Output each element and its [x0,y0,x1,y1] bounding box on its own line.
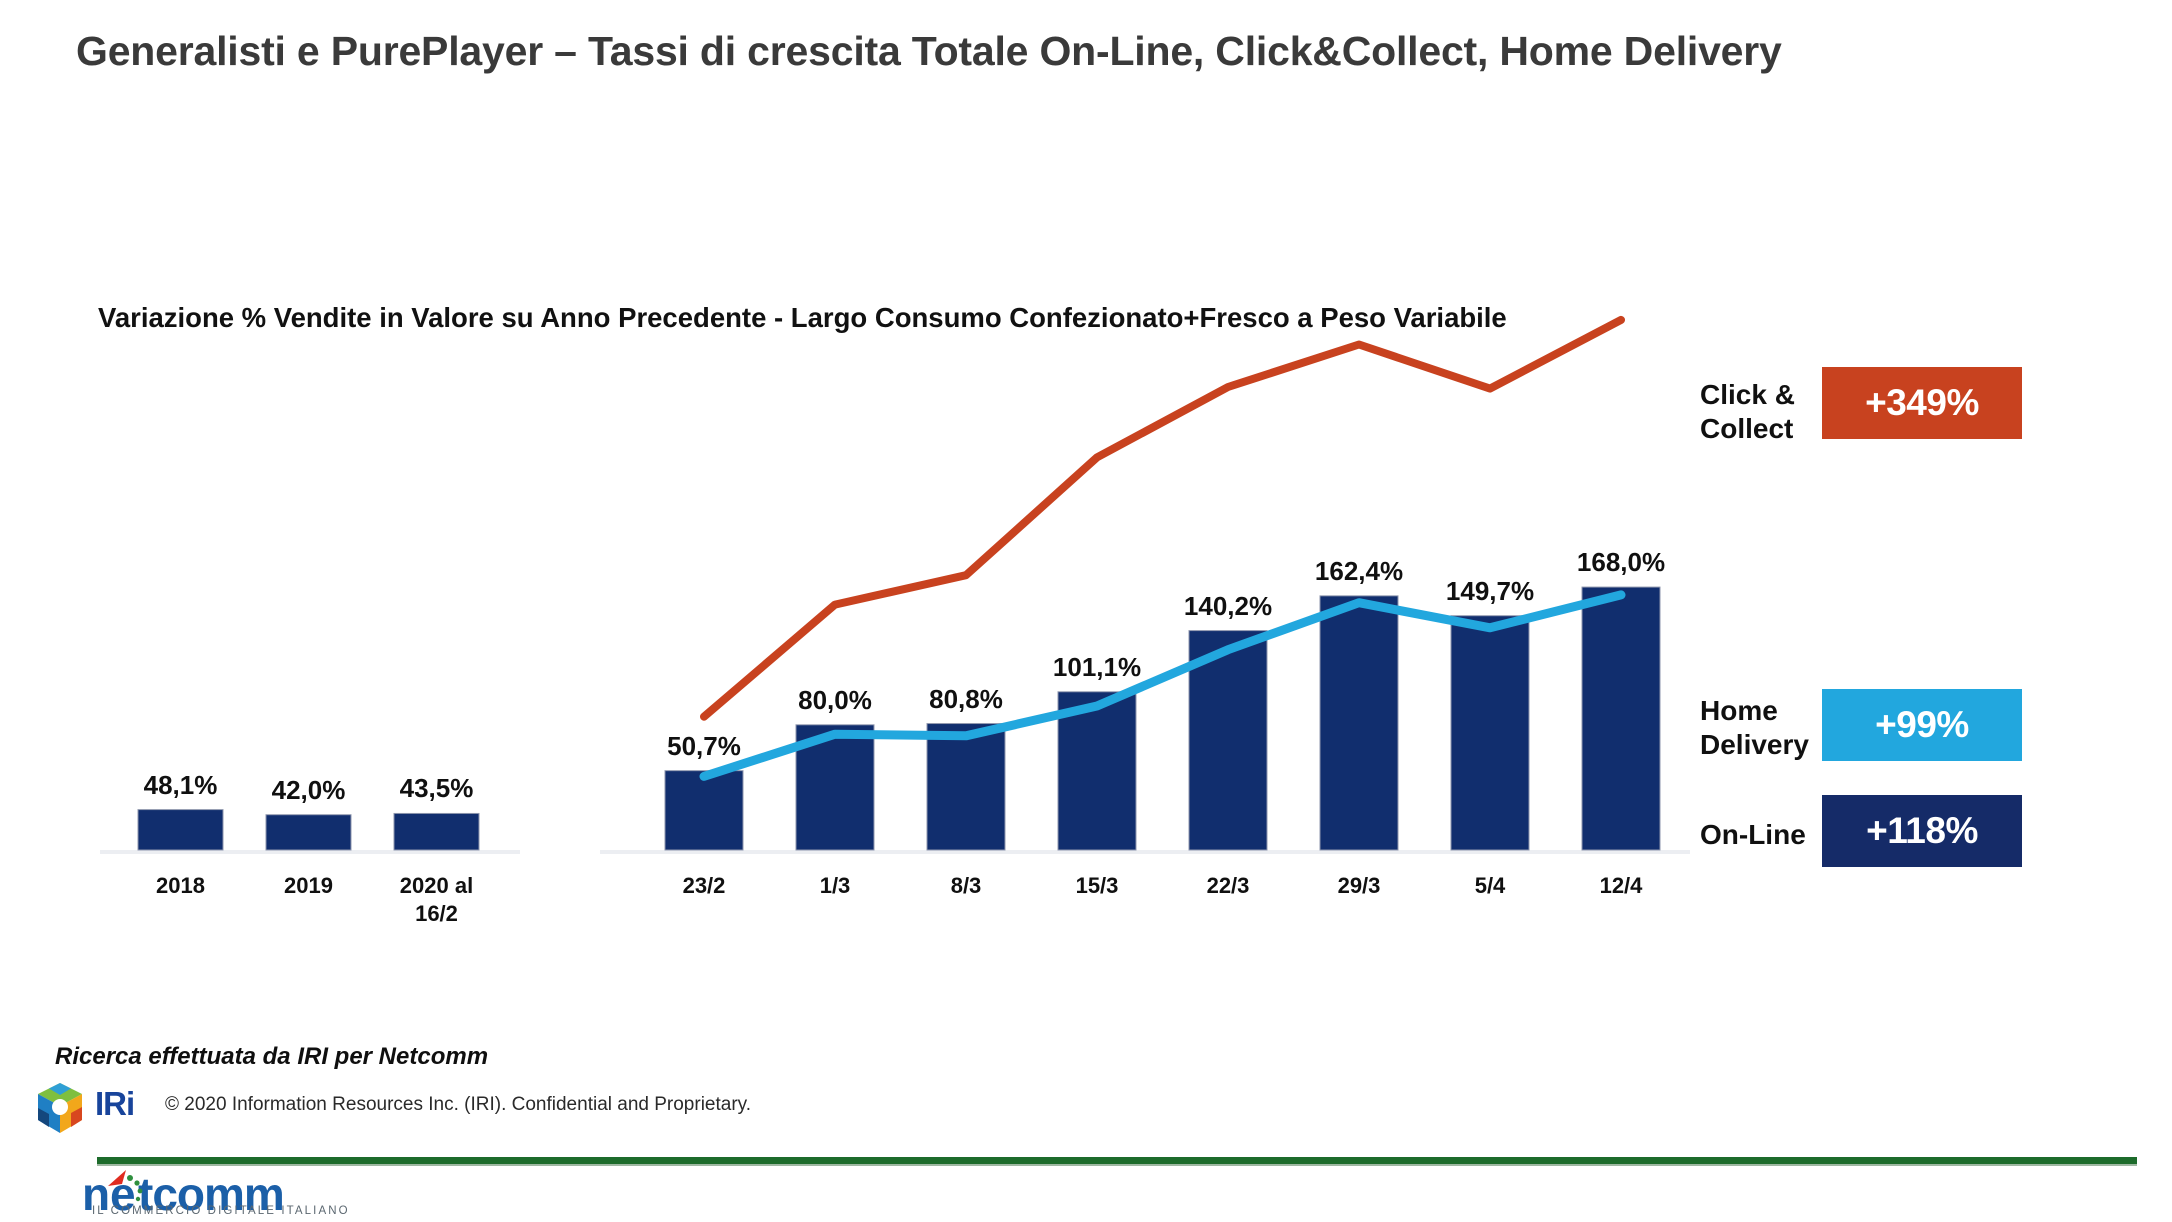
bar-value-weekly-2: 80,8% [856,684,1076,715]
bar-weekly-12-4 [1582,587,1660,850]
legend-label-home-delivery-line1: Home [1700,694,1809,728]
bars-weekly-group [665,587,1660,850]
category-label-annual-2: 2020 al16/2 [327,872,547,927]
netcomm-tagline: IL COMMERCIO DIGITALE ITALIANO [92,1205,350,1217]
bar-annual-2018 [138,810,223,850]
research-note: Ricerca effettuata da IRI per Netcomm [55,1043,488,1071]
category-label-weekly-7: 12/4 [1511,872,1731,900]
page-title: Generalisti e PurePlayer – Tassi di cres… [76,28,2106,75]
badge-click-collect[interactable]: +349% [1822,367,2022,439]
bar-weekly-15-3 [1058,692,1136,850]
left-edge-rail [0,0,8,1222]
legend-label-home-delivery: Home Delivery [1700,694,1809,762]
bar-annual-2020-al-16-2 [394,813,479,850]
bar-value-weekly-0: 50,7% [594,731,814,762]
bar-value-annual-2: 43,5% [327,773,547,804]
bar-weekly-29-3 [1320,596,1398,850]
bar-weekly-8-3 [927,724,1005,850]
bar-value-weekly-6: 149,7% [1380,576,1600,607]
iri-cube-logo [30,1080,90,1136]
bar-value-weekly-4: 140,2% [1118,591,1338,622]
chart-subtitle: Variazione % Vendite in Valore su Anno P… [98,300,1628,335]
iri-copyright: © 2020 Information Resources Inc. (IRI).… [165,1094,751,1116]
bar-weekly-5-4 [1451,616,1529,850]
legend-label-online: On-Line [1700,818,1806,852]
chart-canvas [0,0,2172,1222]
legend-label-online-line1: On-Line [1700,818,1806,852]
legend-label-click-collect-line1: Click & [1700,378,1795,412]
axis-baseline-weekly [600,850,1690,854]
badge-online[interactable]: +118% [1822,795,2022,867]
legend-label-click-collect-line2: Collect [1700,412,1795,446]
footer-divider [97,1157,2137,1166]
bar-value-weekly-7: 168,0% [1511,547,1731,578]
legend-label-click-collect: Click & Collect [1700,378,1795,446]
axis-baseline-annual [100,850,520,854]
bar-weekly-23-2 [665,771,743,850]
iri-wordmark: IRi [95,1085,134,1123]
bar-value-weekly-3: 101,1% [987,652,1207,683]
bars-annual-group [138,810,479,850]
badge-home-delivery[interactable]: +99% [1822,689,2022,761]
legend-label-home-delivery-line2: Delivery [1700,728,1809,762]
bar-annual-2019 [266,815,351,850]
